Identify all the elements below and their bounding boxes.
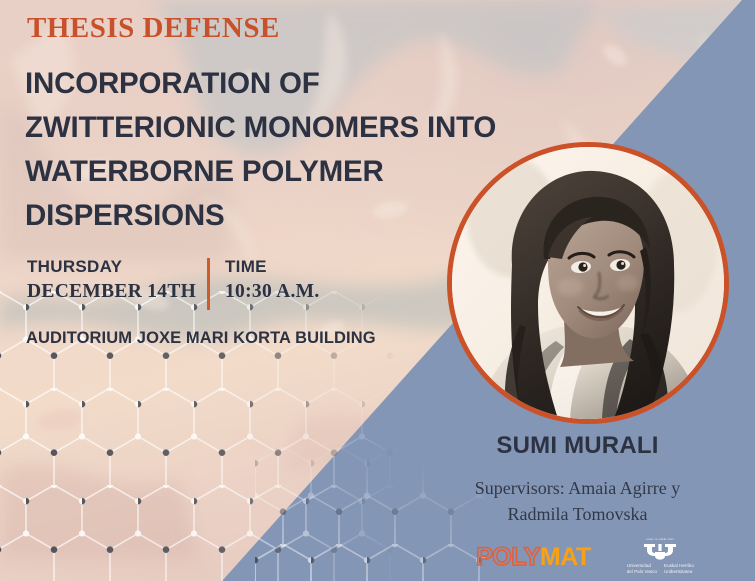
thesis-defense-poster: THESIS DEFENSE INCORPORATION OF ZWITTERI… xyxy=(0,0,755,581)
title-line-3: WATERBORNE POLYMER xyxy=(25,150,555,194)
day-value: DECEMBER 14TH xyxy=(27,279,196,305)
polymat-logo: POLY MAT xyxy=(476,545,591,570)
speaker-portrait xyxy=(447,142,729,424)
upv-ehu-logo: eman ta zabal zazu Universidad del País … xyxy=(627,539,694,576)
time-value: 10:30 A.M. xyxy=(225,279,320,305)
ehu-name-es-2: del País Vasco xyxy=(627,569,657,574)
venue-text: AUDITORIUM JOXE MARI KORTA BUILDING xyxy=(26,329,376,348)
schedule-block: THURSDAY DECEMBER 14TH TIME 10:30 A.M. xyxy=(27,255,427,317)
ehu-name-block: Universidad del País Vasco Euskal Herrik… xyxy=(627,563,694,575)
ehu-name-spanish: Universidad del País Vasco xyxy=(627,563,657,575)
ehu-name-basque: Euskal Herriko Unibertsitatea xyxy=(664,563,694,575)
time-label: TIME xyxy=(225,255,320,279)
polymat-logo-poly: POLY xyxy=(476,545,540,570)
ehu-crest-icon xyxy=(643,543,677,560)
time-column: TIME 10:30 A.M. xyxy=(225,255,320,305)
supervisors-line-2: Radmila Tomovska xyxy=(400,501,755,527)
speaker-name: SUMI MURALI xyxy=(400,432,755,460)
polymat-logo-mat: MAT xyxy=(540,545,591,570)
supervisors-line-1: Supervisors: Amaia Agirre y xyxy=(400,475,755,501)
kicker-thesis-defense: THESIS DEFENSE xyxy=(27,12,280,45)
ehu-motto: eman ta zabal zazu xyxy=(646,539,674,542)
ehu-name-eu-1: Euskal Herriko xyxy=(664,563,694,568)
ehu-name-es-1: Universidad xyxy=(627,563,651,568)
ehu-name-eu-2: Unibertsitatea xyxy=(664,569,692,574)
schedule-divider xyxy=(207,258,210,310)
date-column: THURSDAY DECEMBER 14TH xyxy=(27,255,196,305)
logo-row: POLY MAT eman ta zabal zazu Universidad xyxy=(440,538,730,576)
supervisors-text: Supervisors: Amaia Agirre y Radmila Tomo… xyxy=(400,475,755,527)
title-line-1: INCORPORATION OF xyxy=(25,62,555,106)
day-label: THURSDAY xyxy=(27,255,196,279)
title-line-2: ZWITTERIONIC MONOMERS INTO xyxy=(25,106,555,150)
